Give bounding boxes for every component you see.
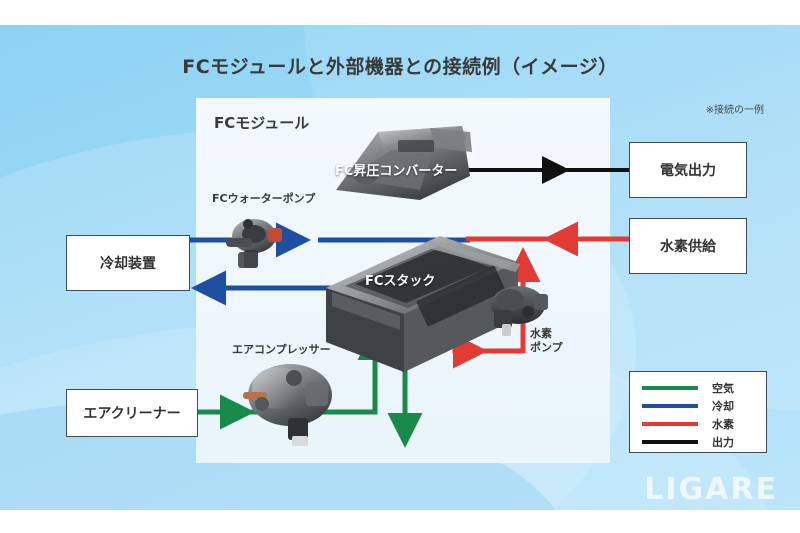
legend-swatch-output [642,440,698,444]
legend-swatch-coolant [642,404,698,408]
fc-stack-part [326,236,520,372]
electric-output-label: 電気出力 [660,160,716,180]
electric-output-box[interactable]: 電気出力 [629,142,747,198]
hydrogen-pump-label-line2: ポンプ [530,341,563,354]
legend-swatch-hydrogen [642,422,698,426]
watermark: LIGARE [644,472,778,507]
fc-boost-converter-label: FC昇圧コンバーター [335,160,457,179]
air-cleaner-label: エアクリーナー [83,403,180,423]
legend-label-air: 空気 [712,380,734,396]
hydrogen-pump-label-line1: 水素 [530,327,552,340]
legend-label-output: 出力 [712,434,734,450]
air-cleaner-box[interactable]: エアクリーナー [66,389,198,437]
hydrogen-pump-label: 水素 ポンプ [530,327,563,355]
air-compressor-part [243,364,332,446]
cooling-device-label: 冷却装置 [100,253,156,273]
legend-item-output: 出力 [630,433,766,451]
air-compressor-label: エアコンプレッサー [232,341,331,357]
legend-item-air: 空気 [630,379,766,397]
legend: 空気 冷却 水素 出力 [629,371,767,453]
fc-water-pump-part [226,219,282,268]
fc-stack-label: FCスタック [365,270,435,289]
legend-item-coolant: 冷却 [630,397,766,415]
cooling-device-box[interactable]: 冷却装置 [66,235,190,291]
screenshot-root: FCモジュールと外部機器との接続例（イメージ） ※接続の一例 FCモジュール [0,0,800,533]
fc-water-pump-label: FCウォーターポンプ [212,190,315,206]
legend-label-hydrogen: 水素 [712,416,734,432]
hydrogen-supply-label: 水素供給 [660,236,716,256]
legend-item-hydrogen: 水素 [630,415,766,433]
fc-module-label: FCモジュール [214,112,309,133]
hydrogen-supply-box[interactable]: 水素供給 [629,218,747,274]
legend-label-coolant: 冷却 [712,398,734,414]
legend-swatch-air [642,386,698,390]
